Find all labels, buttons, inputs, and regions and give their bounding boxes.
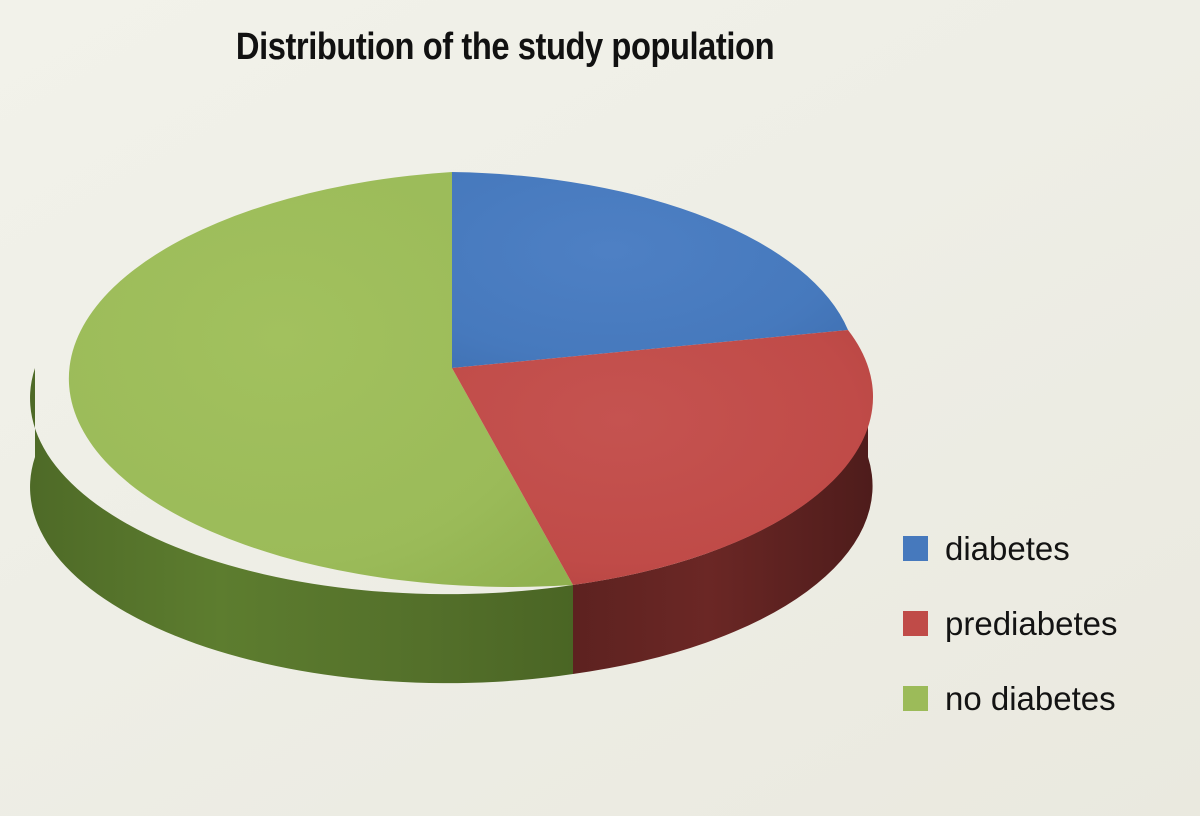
legend-label-prediabetes: prediabetes — [945, 607, 1117, 640]
legend-item-no-diabetes[interactable]: no diabetes — [903, 678, 1193, 718]
legend-item-diabetes[interactable]: diabetes — [903, 528, 1193, 568]
pie-chart-svg — [0, 0, 920, 816]
pie-chart — [0, 0, 920, 816]
legend-swatch-diabetes — [903, 536, 928, 561]
legend-item-prediabetes[interactable]: prediabetes — [903, 603, 1193, 643]
legend-label-no-diabetes: no diabetes — [945, 682, 1116, 715]
legend-swatch-no-diabetes — [903, 686, 928, 711]
legend-swatch-prediabetes — [903, 611, 928, 636]
legend: diabetes prediabetes no diabetes — [903, 528, 1193, 718]
chart-page: Distribution of the study population — [0, 0, 1200, 816]
legend-label-diabetes: diabetes — [945, 532, 1070, 565]
pie-top-face — [69, 172, 873, 587]
